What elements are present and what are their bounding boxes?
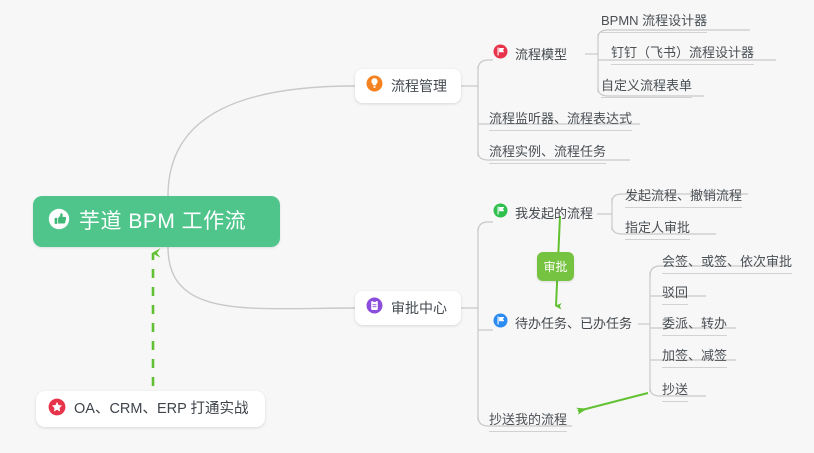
- node-my-started-label: 我发起的流程: [515, 207, 593, 220]
- wire-ac-to-started: [478, 222, 493, 232]
- leaf-underline: [601, 32, 707, 33]
- leaf-underline: [489, 163, 606, 164]
- node-callout-integration[interactable]: OA、CRM、ERP 打通实战: [36, 391, 265, 427]
- node-approval-tag-label: 审批: [543, 261, 567, 273]
- node-approval-tag[interactable]: 审批: [537, 252, 574, 281]
- flag-green-icon: [493, 203, 508, 223]
- node-todo-done-label: 待办任务、已办任务: [515, 317, 632, 330]
- node-process-management-label: 流程管理: [391, 79, 447, 93]
- leaf-listener-expression[interactable]: 流程监听器、流程表达式: [489, 112, 632, 131]
- leaf-add-remove-sign[interactable]: 加签、减签: [662, 349, 727, 368]
- leaf-underline: [625, 239, 690, 240]
- flag-blue-icon: [493, 313, 508, 333]
- node-process-model-label: 流程模型: [515, 48, 567, 61]
- clipboard-icon: [366, 297, 383, 319]
- node-callout-label: OA、CRM、ERP 打通实战: [74, 402, 249, 417]
- wire-root-to-process-management: [168, 86, 355, 196]
- leaf-cc[interactable]: 抄送: [662, 383, 688, 402]
- leaf-custom-form[interactable]: 自定义流程表单: [601, 79, 692, 98]
- leaf-underline: [489, 130, 632, 131]
- leaf-underline: [601, 97, 692, 98]
- leaf-underline: [489, 431, 567, 432]
- arrow-cc-to-cc-my: [578, 393, 648, 411]
- leaf-bpmn-designer[interactable]: BPMN 流程设计器: [601, 14, 707, 33]
- node-todo-done-tasks[interactable]: 待办任务、已办任务: [493, 314, 632, 332]
- leaf-cc-my-processes[interactable]: 抄送我的流程: [489, 413, 567, 432]
- leaf-underline: [662, 367, 727, 368]
- flag-red-icon: [493, 44, 508, 64]
- leaf-reject[interactable]: 驳回: [662, 286, 688, 305]
- mindmap-canvas: 芋道 BPM 工作流 流程管理 审批中心: [0, 0, 814, 453]
- leaf-instance-task[interactable]: 流程实例、流程任务: [489, 145, 606, 164]
- leaf-underline: [662, 273, 792, 274]
- leaf-assignee-approval[interactable]: 指定人审批: [625, 221, 690, 240]
- wire-root-to-approval-center: [168, 247, 355, 309]
- root-label: 芋道 BPM 工作流: [79, 211, 246, 232]
- leaf-underline: [611, 64, 754, 65]
- lightbulb-icon: [366, 75, 383, 97]
- leaf-countersign[interactable]: 会签、或签、依次审批: [662, 255, 792, 274]
- thumbs-up-icon: [48, 208, 70, 235]
- leaf-underline: [662, 335, 727, 336]
- node-process-model[interactable]: 流程模型: [493, 45, 567, 63]
- node-process-management[interactable]: 流程管理: [355, 69, 461, 103]
- leaf-delegate-transfer[interactable]: 委派、转办: [662, 317, 727, 336]
- leaf-dingtalk-designer[interactable]: 钉钉（飞书）流程设计器: [611, 46, 754, 65]
- root-node[interactable]: 芋道 BPM 工作流: [33, 196, 280, 247]
- leaf-underline: [625, 207, 742, 208]
- star-icon: [48, 398, 66, 421]
- leaf-underline: [662, 304, 688, 305]
- node-my-started-processes[interactable]: 我发起的流程: [493, 204, 593, 222]
- node-approval-center-label: 审批中心: [391, 301, 447, 315]
- leaf-launch-cancel[interactable]: 发起流程、撤销流程: [625, 189, 742, 208]
- wire-pm-to-model: [478, 60, 493, 70]
- leaf-underline: [662, 401, 688, 402]
- node-approval-center[interactable]: 审批中心: [355, 291, 461, 325]
